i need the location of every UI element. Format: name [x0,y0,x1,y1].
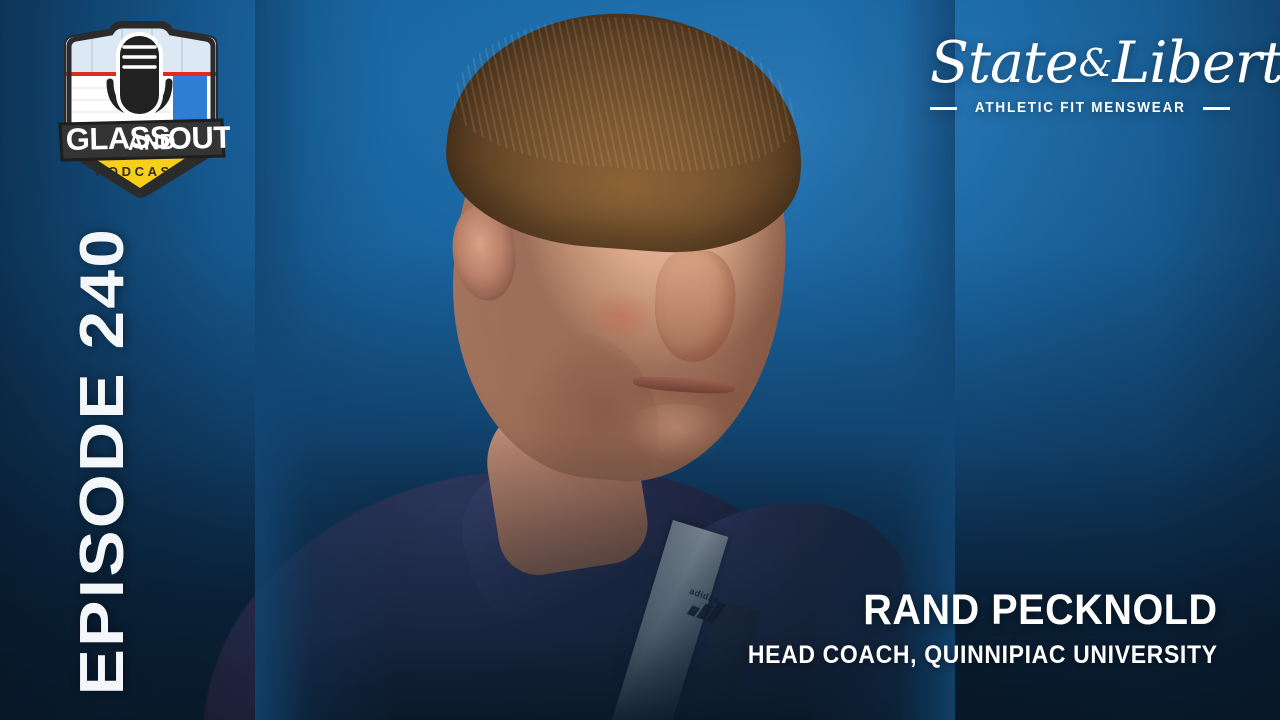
sponsor-ampersand: & [1078,41,1113,85]
state-and-liberty-logo[interactable]: State&Liberty ATHLETIC FIT MENSWEAR [930,34,1230,116]
sponsor-word-state: State [930,30,1078,96]
episode-number-text: EPISODE 240 [67,227,138,696]
episode-number-label: EPISODE 240 [56,300,148,670]
tagline-rule-left [930,107,957,110]
tagline-rule-right [1203,107,1230,110]
guest-role: HEAD COACH, QUINNIPIAC UNIVERSITY [748,642,1218,668]
podcast-episode-graphic: adidas [0,0,1280,720]
sponsor-tagline: ATHLETIC FIT MENSWEAR [975,100,1186,116]
logo-word-out: OUT [167,120,230,156]
podcast-logo-artwork: GLASS AND OUT PODCAST [52,16,230,202]
guest-name: RAND PECKNOLD [748,588,1218,633]
guest-name-block: RAND PECKNOLD HEAD COACH, QUINNIPIAC UNI… [707,588,1218,668]
sponsor-word-liberty: Liberty [1112,30,1280,96]
sponsor-script-wordmark: State&Liberty [930,34,1230,92]
sponsor-tagline-row: ATHLETIC FIT MENSWEAR [930,100,1230,116]
logo-subtitle-podcast: PODCAST [96,164,185,179]
glass-and-out-podcast-logo[interactable]: GLASS AND OUT PODCAST [52,16,230,202]
